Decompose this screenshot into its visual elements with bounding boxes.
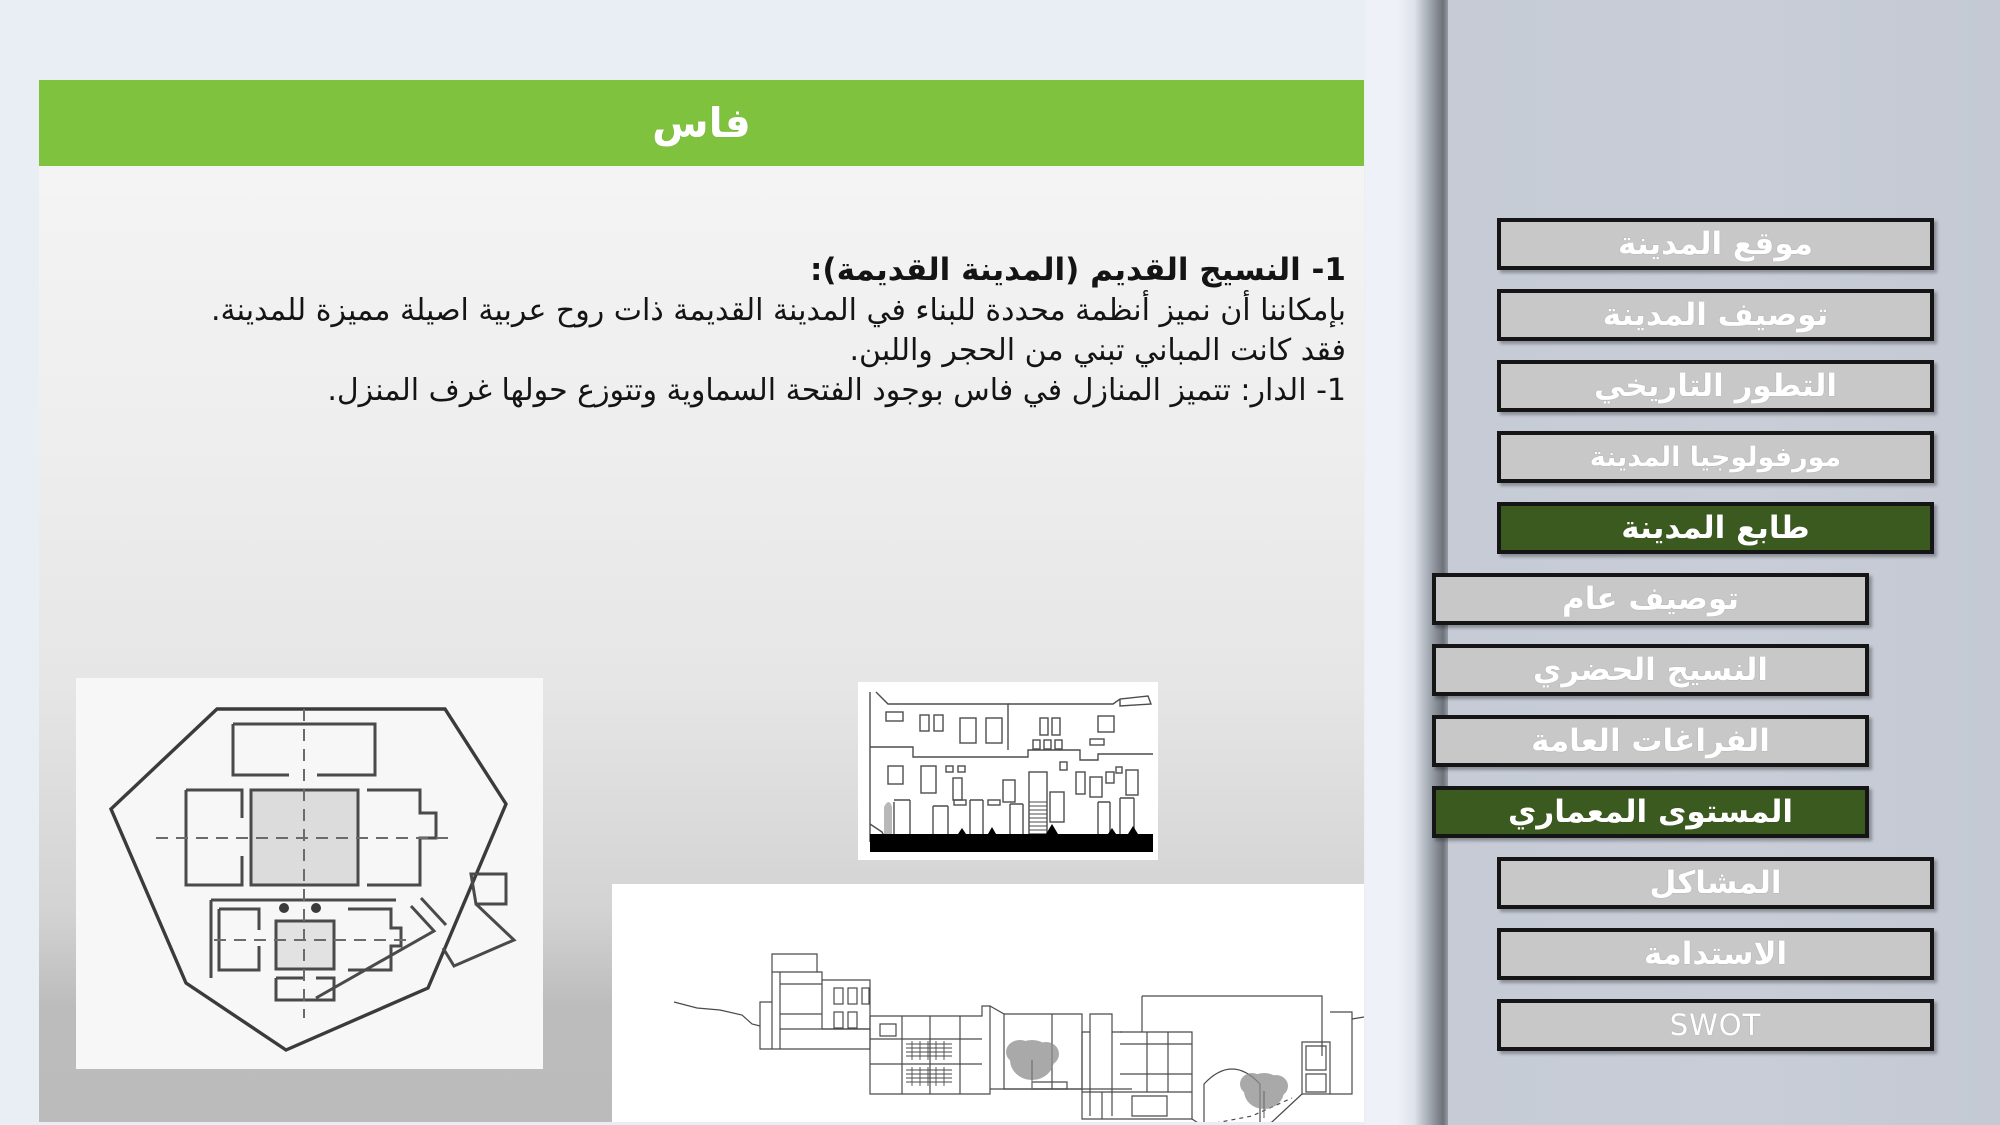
menu-item-city-location[interactable]: موقع المدينة bbox=[1497, 218, 1934, 270]
menu-item-label: موقع المدينة bbox=[1618, 226, 1813, 262]
presentation-slide-view: فاس 1- النسيج القديم (المدينة القديمة): … bbox=[0, 0, 2000, 1125]
slide-text-block: 1- النسيج القديم (المدينة القديمة): بإمك… bbox=[56, 250, 1346, 411]
page-title: فاس bbox=[652, 99, 751, 147]
navigation-menu: موقع المدينة توصيف المدينة التطور التاري… bbox=[1448, 0, 2000, 1125]
courtyard-house-floor-plan-image bbox=[76, 678, 543, 1069]
navigation-panel: موقع المدينة توصيف المدينة التطور التاري… bbox=[1448, 0, 2000, 1125]
panel-shadow-divider bbox=[1365, 0, 1450, 1125]
menu-item-urban-fabric[interactable]: النسيج الحضري bbox=[1432, 644, 1869, 696]
slide: فاس 1- النسيج القديم (المدينة القديمة): … bbox=[39, 80, 1364, 1122]
menu-item-architectural-level[interactable]: المستوى المعماري bbox=[1432, 786, 1869, 838]
menu-item-label: توصيف المدينة bbox=[1603, 297, 1828, 333]
text-line-heading: 1- النسيج القديم (المدينة القديمة): bbox=[56, 250, 1346, 291]
menu-item-city-character[interactable]: طابع المدينة bbox=[1497, 502, 1934, 554]
menu-item-label: التطور التاريخي bbox=[1594, 368, 1837, 404]
menu-item-label: SWOT bbox=[1670, 1008, 1762, 1042]
text-line-3: 1- الدار: تتميز المنازل في فاس بوجود الف… bbox=[56, 371, 1346, 411]
menu-item-historical-development[interactable]: التطور التاريخي bbox=[1497, 360, 1934, 412]
menu-item-label: توصيف عام bbox=[1562, 581, 1739, 617]
menu-item-label: طابع المدينة bbox=[1621, 510, 1810, 546]
menu-item-label: الاستدامة bbox=[1644, 936, 1787, 972]
street-elevation-drawing-image bbox=[858, 682, 1158, 860]
menu-item-label: المشاكل bbox=[1650, 865, 1782, 901]
menu-item-city-morphology[interactable]: مورفولوجيا المدينة bbox=[1497, 431, 1934, 483]
urban-section-drawing-image bbox=[612, 884, 1364, 1122]
menu-item-label: النسيج الحضري bbox=[1533, 652, 1768, 688]
menu-item-problems[interactable]: المشاكل bbox=[1497, 857, 1934, 909]
slide-title-bar: فاس bbox=[39, 80, 1364, 166]
menu-item-label: الفراغات العامة bbox=[1531, 723, 1770, 759]
menu-item-general-description[interactable]: توصيف عام bbox=[1432, 573, 1869, 625]
text-line-1: بإمكاننا أن نميز أنظمة محددة للبناء في ا… bbox=[56, 291, 1346, 331]
menu-item-city-description[interactable]: توصيف المدينة bbox=[1497, 289, 1934, 341]
slide-body: 1- النسيج القديم (المدينة القديمة): بإمك… bbox=[39, 166, 1364, 1122]
menu-item-label: المستوى المعماري bbox=[1508, 794, 1793, 830]
text-line-2: فقد كانت المباني تبني من الحجر واللبن. bbox=[56, 331, 1346, 371]
menu-item-swot[interactable]: SWOT bbox=[1497, 999, 1934, 1051]
menu-item-sustainability[interactable]: الاستدامة bbox=[1497, 928, 1934, 980]
menu-item-label: مورفولوجيا المدينة bbox=[1590, 442, 1842, 473]
menu-item-public-spaces[interactable]: الفراغات العامة bbox=[1432, 715, 1869, 767]
